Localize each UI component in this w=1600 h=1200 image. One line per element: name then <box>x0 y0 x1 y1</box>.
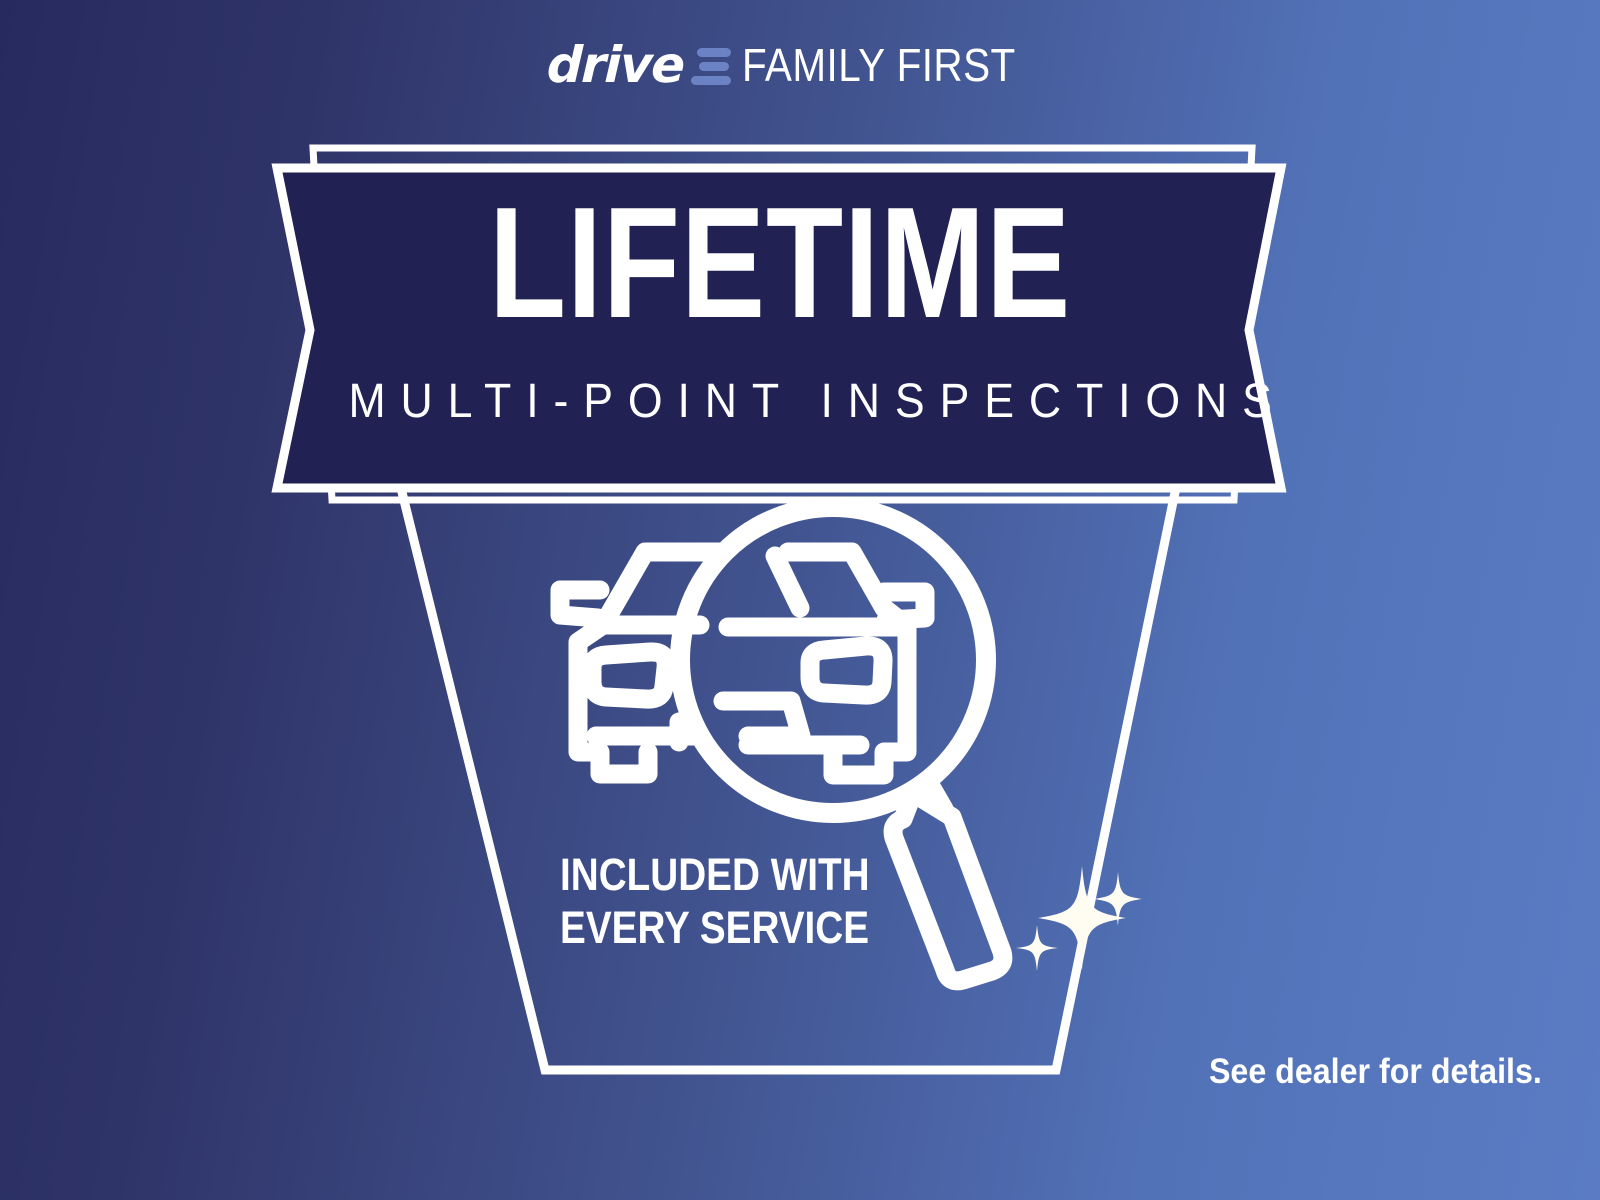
brand-lockup: drive FAMILY FIRST <box>0 34 1600 96</box>
sparkle-icon-small <box>1016 925 1058 971</box>
car-main-headlight <box>810 646 883 695</box>
sparkle-icon-large <box>1038 866 1126 970</box>
car-main-left-pillar <box>775 556 800 608</box>
caption-line-2: EVERY SERVICE <box>560 901 870 954</box>
car-left-headlight <box>592 652 666 699</box>
three-bars-icon <box>691 48 731 85</box>
included-caption: INCLUDED WITH EVERY SERVICE <box>560 848 870 954</box>
magnifier-neck <box>929 783 944 809</box>
caption-line-1: INCLUDED WITH <box>560 848 870 901</box>
promo-poster: drive FAMILY FIRST LIFETIME MULTI-POINT … <box>0 0 1600 1200</box>
banner-subtitle: MULTI-POINT INSPECTIONS <box>334 378 1227 426</box>
car-left-mirror <box>560 590 600 618</box>
brand-tagline: FAMILY FIRST <box>742 42 1016 88</box>
banner-title: LIFETIME <box>396 186 1164 341</box>
car-main-grille <box>723 701 801 736</box>
brand-wordmark: drive <box>546 40 684 90</box>
magnifier-handle <box>893 793 1003 981</box>
disclaimer-text: See dealer for details. <box>1209 1052 1542 1092</box>
